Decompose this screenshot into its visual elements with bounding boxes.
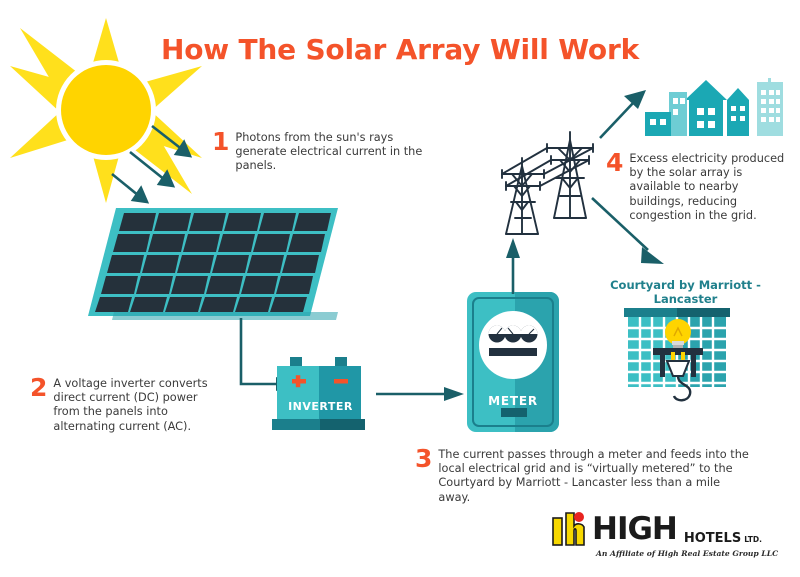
logo-tagline: An Affiliate of High Real Estate Group L…	[596, 549, 792, 558]
inverter-to-meter-arrow	[376, 386, 466, 402]
meter-label: METER	[467, 394, 559, 408]
step-1-text: Photons from the sun's rays generate ele…	[235, 131, 427, 174]
hotel-caption: Courtyard by Marriott - Lancaster	[588, 278, 783, 306]
hotel-lightbulb-icon	[620, 308, 734, 404]
step-3-number: 3	[415, 448, 432, 469]
power-tower-icon	[492, 122, 604, 240]
logo-ltd-text: LTD.	[744, 536, 762, 546]
infographic-canvas: How The Solar Array Will Work	[0, 0, 800, 577]
meter-dials	[489, 326, 538, 343]
high-hotels-logo: HIGH HOTELS LTD. An Affiliate of High Re…	[552, 512, 792, 560]
step-4-number: 4	[606, 152, 623, 173]
step-2: 2 A voltage inverter converts direct cur…	[30, 377, 225, 434]
sun-ray-arrows	[110, 108, 225, 208]
step-1: 1 Photons from the sun's rays generate e…	[212, 131, 427, 174]
step-4: 4 Excess electricity produced by the sol…	[606, 152, 786, 223]
city-buildings-icon	[645, 78, 795, 136]
step-3-text: The current passes through a meter and f…	[438, 448, 755, 505]
step-3: 3 The current passes through a meter and…	[415, 448, 755, 505]
logo-suffix-text: HOTELS	[684, 532, 741, 546]
tower-to-city-arrow	[596, 88, 648, 142]
high-hotels-mark-icon	[552, 512, 592, 546]
step-1-number: 1	[212, 131, 229, 152]
inverter-label: INVERTER	[272, 400, 369, 413]
solar-panel-icon	[88, 208, 338, 320]
logo-brand-text: HIGH	[592, 514, 677, 545]
step-2-number: 2	[30, 377, 47, 398]
inverter-icon	[272, 357, 369, 433]
meter-to-tower-arrow	[505, 238, 521, 294]
step-2-text: A voltage inverter converts direct curre…	[53, 377, 225, 434]
step-4-text: Excess electricity produced by the solar…	[629, 152, 786, 223]
meter-icon	[467, 292, 559, 432]
